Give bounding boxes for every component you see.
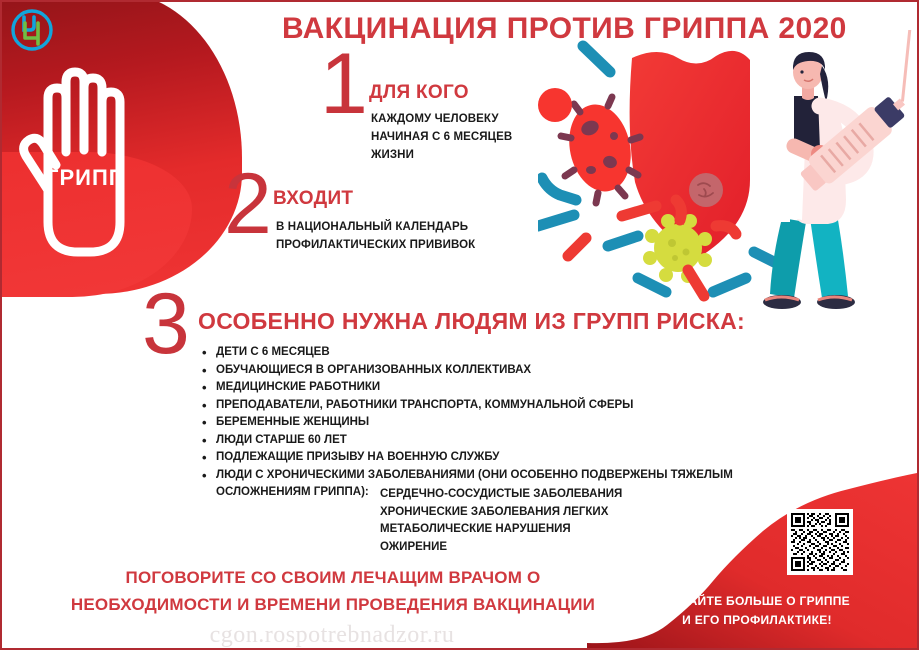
cta-line-1: ПОГОВОРИТЕ СО СВОИМ ЛЕЧАЩИМ ВРАЧОМ О xyxy=(38,564,628,591)
chronic-conditions-list: СЕРДЕЧНО-СОСУДИСТЫЕ ЗАБОЛЕВАНИЯ ХРОНИЧЕС… xyxy=(380,486,622,556)
section-heading-1: ДЛЯ КОГО xyxy=(369,82,469,104)
virus-large-icon xyxy=(561,97,640,203)
list-item: ПОДЛЕЖАЩИЕ ПРИЗЫВУ НА ВОЕННУЮ СЛУЖБУ xyxy=(202,449,802,467)
list-item: ОЖИРЕНИЕ xyxy=(380,539,622,557)
list-item: ЛЮДИ СТАРШЕ 60 ЛЕТ xyxy=(202,432,802,450)
section-body-2: В НАЦИОНАЛЬНЫЙ КАЛЕНДАРЬ ПРОФИЛАКТИЧЕСКИ… xyxy=(276,218,475,254)
section-number-1: 1 xyxy=(320,50,368,119)
list-item: ХРОНИЧЕСКИЕ ЗАБОЛЕВАНИЯ ЛЕГКИХ xyxy=(380,504,622,522)
list-item: ОБУЧАЮЩИЕСЯ В ОРГАНИЗОВАННЫХ КОЛЛЕКТИВАХ xyxy=(202,362,802,380)
qr-call-to-action: УЗНАЙТЕ БОЛЬШЕ О ГРИППЕ И ЕГО ПРОФИЛАКТИ… xyxy=(607,592,907,630)
qr-code-pattern xyxy=(791,513,849,571)
list-item: ПРЕПОДАВАТЕЛИ, РАБОТНИКИ ТРАНСПОРТА, КОМ… xyxy=(202,397,802,415)
illustration-shield-virus-doctor xyxy=(538,30,919,320)
list-item: МЕДИЦИНСКИЕ РАБОТНИКИ xyxy=(202,379,802,397)
watermark: cgon.rospotrebnadzor.ru xyxy=(2,622,662,649)
qr-cta-line-2: И ЕГО ПРОФИЛАКТИКЕ! xyxy=(607,611,907,630)
stop-hand-icon xyxy=(4,40,164,275)
virus-small-icon xyxy=(538,88,572,122)
hand-label: ГРИПП xyxy=(46,165,126,191)
section-number-2: 2 xyxy=(224,170,272,239)
qr-code[interactable] xyxy=(787,509,853,575)
list-item: БЕРЕМЕННЫЕ ЖЕНЩИНЫ xyxy=(202,414,802,432)
call-to-action: ПОГОВОРИТЕ СО СВОИМ ЛЕЧАЩИМ ВРАЧОМ О НЕО… xyxy=(38,564,628,618)
poster-root: ГРИПП ВАКЦИНАЦИЯ ПРОТИВ ГРИППА 2020 1 ДЛ… xyxy=(0,0,919,650)
section-number-3: 3 xyxy=(142,290,190,359)
list-item: МЕТАБОЛИЧЕСКИЕ НАРУШЕНИЯ xyxy=(380,521,622,539)
section-heading-2: ВХОДИТ xyxy=(273,188,353,210)
cgon-logo-icon xyxy=(10,8,54,52)
cta-line-2: НЕОБХОДИМОСТИ И ВРЕМЕНИ ПРОВЕДЕНИЯ ВАКЦИ… xyxy=(38,591,628,618)
list-item: СЕРДЕЧНО-СОСУДИСТЫЕ ЗАБОЛЕВАНИЯ xyxy=(380,486,622,504)
section-body-1: КАЖДОМУ ЧЕЛОВЕКУ НАЧИНАЯ С 6 МЕСЯЦЕВ ЖИЗ… xyxy=(371,110,512,164)
list-item: ДЕТИ С 6 МЕСЯЦЕВ xyxy=(202,344,802,362)
qr-cta-line-1: УЗНАЙТЕ БОЛЬШЕ О ГРИППЕ xyxy=(607,592,907,611)
